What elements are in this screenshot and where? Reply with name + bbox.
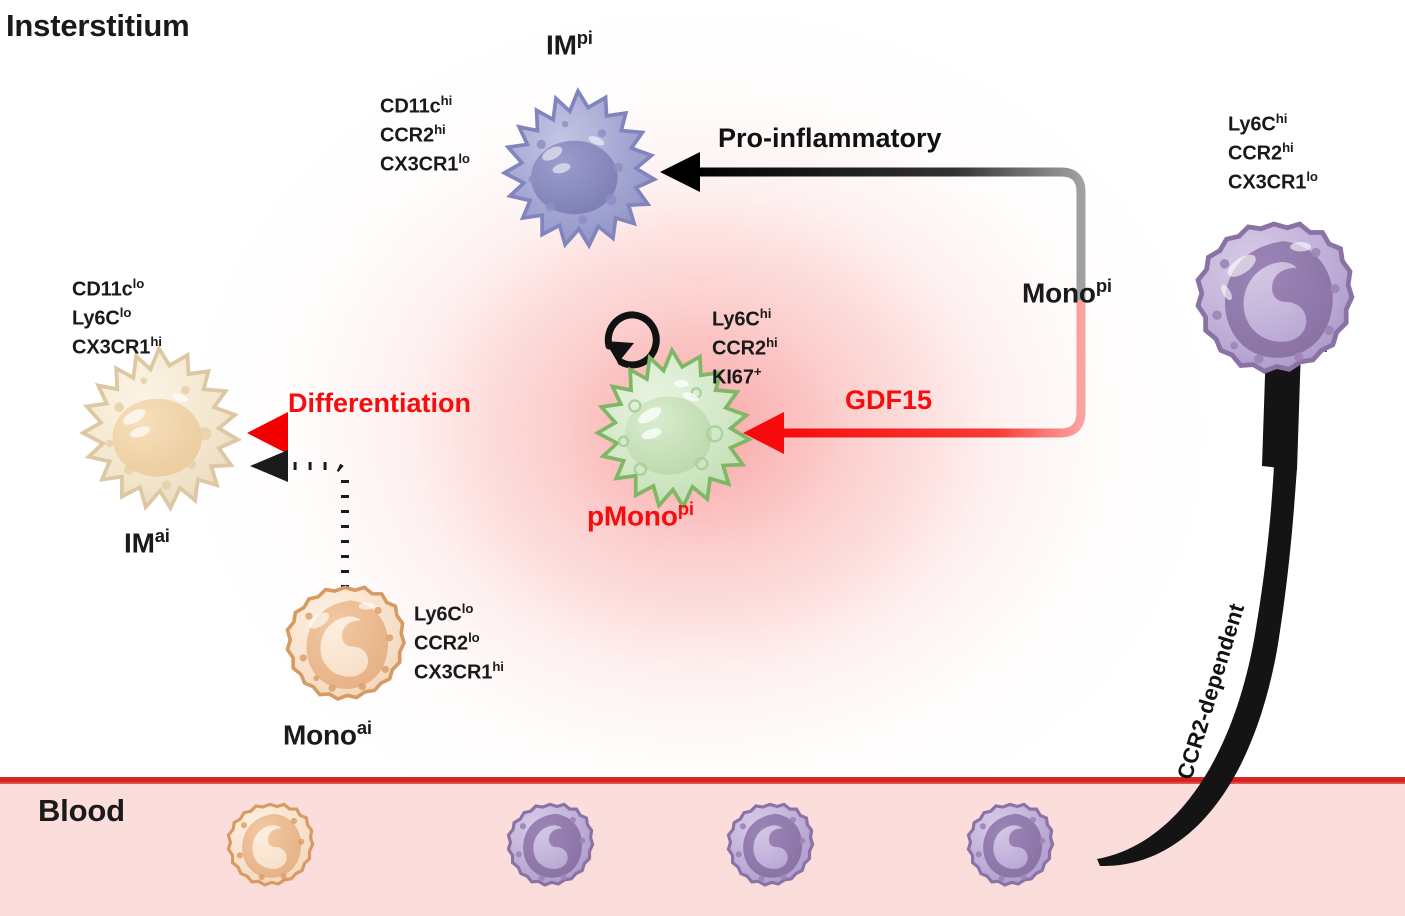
marker-level: + <box>754 364 762 379</box>
marker-row: CD11clo <box>72 275 162 304</box>
cell-mono-pi <box>1198 224 1352 371</box>
marker-row: CCR2hi <box>1228 139 1318 168</box>
markers-pmono-pi: Ly6Chi CCR2hi KI67+ <box>712 305 778 392</box>
marker-level: lo <box>133 276 145 291</box>
cell-title-im-pi-sup: pi <box>577 27 593 48</box>
marker-row: CX3CR1hi <box>72 333 162 362</box>
marker-name: CCR2 <box>414 633 468 655</box>
markers-im-ai: CD11clo Ly6Clo CX3CR1hi <box>72 275 162 362</box>
marker-name: CX3CR1 <box>1228 172 1306 194</box>
cell-title-mono-ai-sup: ai <box>357 717 372 738</box>
marker-level: lo <box>120 305 132 320</box>
cell-title-im-ai: IMai <box>124 525 170 559</box>
marker-level: hi <box>150 334 162 349</box>
marker-level: lo <box>462 601 474 616</box>
marker-level: hi <box>492 659 504 674</box>
marker-row: CX3CR1hi <box>414 658 504 687</box>
interstitium-label: Insterstitium <box>6 8 189 44</box>
ccr2-dependent-label: CCR2-dependent <box>1172 600 1250 782</box>
cell-title-im-ai-text: IM <box>124 527 155 558</box>
cell-im-pi <box>504 91 654 246</box>
marker-level: hi <box>434 122 446 137</box>
marker-name: CCR2 <box>1228 143 1282 165</box>
blood-compartment <box>0 784 1405 916</box>
marker-row: Ly6Clo <box>414 600 504 629</box>
marker-row: Ly6Chi <box>1228 110 1318 139</box>
gdf15-arrow <box>743 300 1081 454</box>
marker-name: CCR2 <box>380 125 434 147</box>
markers-mono-pi: Ly6Chi CCR2hi CX3CR1lo <box>1228 110 1318 197</box>
dotted-replenishment-arrow <box>250 450 345 588</box>
marker-row: Ly6Chi <box>712 305 778 334</box>
cell-title-mono-ai: Monoai <box>283 717 372 751</box>
diagram-canvas: Insterstitium Blood IMpi CD11chi CCR2hi … <box>0 0 1405 916</box>
marker-level: hi <box>1282 140 1294 155</box>
marker-level: lo <box>468 630 480 645</box>
marker-row: CD11chi <box>380 92 470 121</box>
marker-level: hi <box>1276 111 1288 126</box>
marker-name: Ly6C <box>414 604 462 626</box>
marker-name: CD11c <box>380 96 441 118</box>
marker-name: CX3CR1 <box>380 154 458 176</box>
marker-row: CX3CR1lo <box>380 150 470 179</box>
marker-row: CCR2hi <box>380 121 470 150</box>
cell-title-pmono-pi: pMonopi <box>587 498 694 532</box>
cell-title-mono-pi: Monopi <box>1022 275 1112 309</box>
marker-name: Ly6C <box>1228 114 1276 136</box>
marker-row: KI67+ <box>712 363 778 392</box>
blood-label: Blood <box>38 793 125 829</box>
cell-title-im-pi: IMpi <box>546 27 593 61</box>
ccr2-dependent-arrow <box>1097 248 1327 866</box>
marker-name: CX3CR1 <box>72 337 150 359</box>
markers-mono-ai: Ly6Clo CCR2lo CX3CR1hi <box>414 600 504 687</box>
cell-mono-ai <box>287 587 404 699</box>
pro-inflammatory-label: Pro-inflammatory <box>718 123 942 154</box>
cell-title-mono-pi-text: Mono <box>1022 277 1096 308</box>
marker-level: lo <box>1306 169 1318 184</box>
cell-title-pmono-pi-text: pMono <box>587 500 678 531</box>
marker-name: CD11c <box>72 279 133 301</box>
marker-name: KI67 <box>712 367 754 389</box>
marker-level: lo <box>458 151 470 166</box>
marker-row: CX3CR1lo <box>1228 168 1318 197</box>
differentiation-label: Differentiation <box>288 388 471 419</box>
markers-im-pi: CD11chi CCR2hi CX3CR1lo <box>380 92 470 179</box>
pro-inflammatory-arrow <box>660 152 1081 300</box>
marker-row: CCR2lo <box>414 629 504 658</box>
marker-level: hi <box>441 93 453 108</box>
self-renewal-loop-arrow <box>605 315 656 365</box>
marker-name: CX3CR1 <box>414 662 492 684</box>
cell-title-im-pi-text: IM <box>546 29 577 60</box>
marker-level: hi <box>760 306 772 321</box>
gdf15-label: GDF15 <box>845 385 932 416</box>
marker-name: Ly6C <box>712 309 760 331</box>
marker-row: Ly6Clo <box>72 304 162 333</box>
cell-title-mono-pi-sup: pi <box>1096 275 1112 296</box>
marker-name: CCR2 <box>712 338 766 360</box>
marker-name: Ly6C <box>72 308 120 330</box>
marker-level: hi <box>766 335 778 350</box>
marker-row: CCR2hi <box>712 334 778 363</box>
cell-title-pmono-pi-sup: pi <box>678 498 694 519</box>
cell-title-mono-ai-text: Mono <box>283 719 357 750</box>
cell-im-ai <box>83 348 238 508</box>
cell-title-im-ai-sup: ai <box>155 525 170 546</box>
